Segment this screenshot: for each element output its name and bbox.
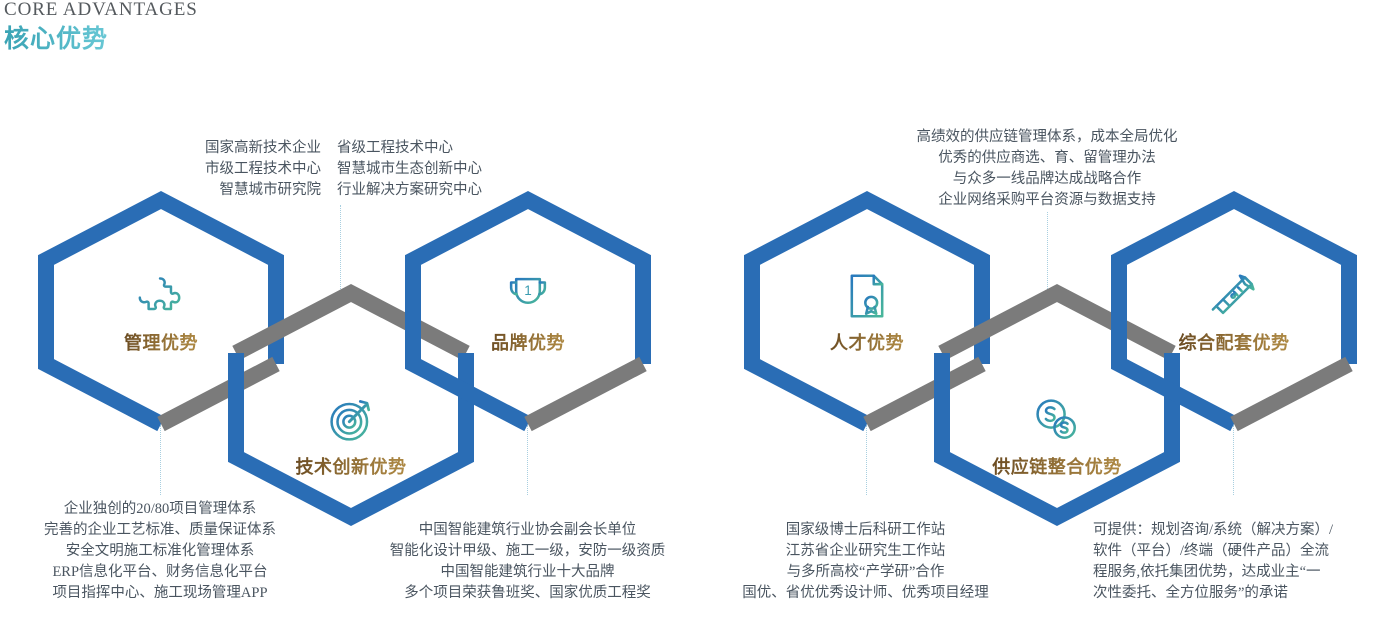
callout-line: 企业独创的20/80项目管理体系 [20,499,300,520]
page-header: CORE ADVANTAGES 核心优势 [4,0,198,56]
callout-management: 企业独创的20/80项目管理体系 完善的企业工艺标准、质量保证体系 安全文明施工… [20,499,300,604]
callout-talent: 国家级博士后科研工作站 江苏省企业研究生工作站 与多所高校“产学研”合作 国优、… [718,520,1013,604]
callout-supply-chain: 高绩效的供应链管理体系，成本全局优化 优秀的供应商选、育、留管理办法 与众多一线… [887,127,1207,211]
callout-line: 项目指挥中心、施工现场管理APP [20,583,300,604]
leader-line-tech-innovation [340,205,341,295]
page-title-chinese: 核心优势 [4,22,198,56]
leader-line-comprehensive [1233,425,1234,495]
callout-tech-innovation-col-right: 省级工程技术中心 智慧城市生态创新中心 行业解决方案研究中心 [337,138,482,201]
callout-line: ERP信息化平台、财务信息化平台 [20,562,300,583]
callout-line: 多个项目荣获鲁班奖、国家优质工程奖 [375,583,680,604]
leader-line-talent [866,425,867,495]
callout-line: 次性委托、全方位服务”的承诺 [1093,583,1393,604]
callout-line: 安全文明施工标准化管理体系 [20,541,300,562]
callout-line: 省级工程技术中心 [337,138,482,159]
callout-comprehensive: 可提供：规划咨询/系统（解决方案）/ 软件（平台）/终端（硬件产品）全流 程服务… [1093,520,1393,604]
leader-line-brand [527,425,528,495]
leader-line-management [160,425,161,495]
callout-line: 与多所高校“产学研”合作 [718,562,1013,583]
callout-line: 优秀的供应商选、育、留管理办法 [887,148,1207,169]
callout-line: 国家高新技术企业 [205,138,321,159]
callout-line: 市级工程技术中心 [205,159,321,180]
callout-line: 智慧城市生态创新中心 [337,159,482,180]
callout-line: 中国智能建筑行业协会副会长单位 [375,520,680,541]
callout-line: 江苏省企业研究生工作站 [718,541,1013,562]
callout-line: 企业网络采购平台资源与数据支持 [887,190,1207,211]
page-title-english: CORE ADVANTAGES [4,0,198,22]
hexagon-comprehensive[interactable]: 综合配套优势 [1111,192,1357,432]
callout-line: 与众多一线品牌达成战略合作 [887,169,1207,190]
callout-line: 国优、省优优秀设计师、优秀项目经理 [718,583,1013,604]
callout-line: 中国智能建筑行业十大品牌 [375,562,680,583]
callout-line: 高绩效的供应链管理体系，成本全局优化 [887,127,1207,148]
callout-tech-innovation-col-left: 国家高新技术企业 市级工程技术中心 智慧城市研究院 [205,138,321,201]
callout-tech-innovation: 国家高新技术企业 市级工程技术中心 智慧城市研究院 省级工程技术中心 智慧城市生… [205,138,482,201]
callout-line: 国家级博士后科研工作站 [718,520,1013,541]
hexagon-brand[interactable]: 1 品牌优势 [405,192,651,432]
callout-brand: 中国智能建筑行业协会副会长单位 智能化设计甲级、施工一级，安防一级资质 中国智能… [375,520,680,604]
callout-line: 可提供：规划咨询/系统（解决方案）/ [1093,520,1393,541]
infographic-canvas: CORE ADVANTAGES 核心优势 [0,0,1400,618]
callout-line: 行业解决方案研究中心 [337,180,482,201]
callout-line: 智能化设计甲级、施工一级，安防一级资质 [375,541,680,562]
leader-line-supply-chain [1047,212,1048,295]
callout-line: 完善的企业工艺标准、质量保证体系 [20,520,300,541]
callout-line: 软件（平台）/终端（硬件产品）全流 [1093,541,1393,562]
callout-line: 程服务,依托集团优势，达成业主“一 [1093,562,1393,583]
callout-line: 智慧城市研究院 [205,180,321,201]
